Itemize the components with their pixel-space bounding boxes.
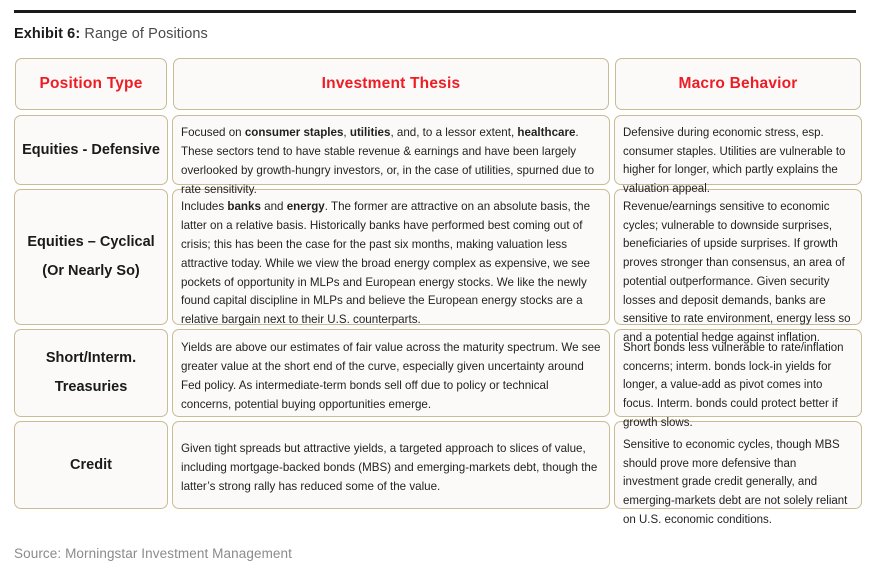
source-attribution: Source: Morningstar Investment Managemen… (14, 546, 292, 561)
cell-investment-thesis: Focused on consumer staples, utilities, … (172, 115, 610, 185)
exhibit-label: Exhibit 6: (14, 26, 80, 42)
positions-table: Position Type Investment Thesis Macro Be… (10, 53, 866, 513)
macro-behavior-text: Sensitive to economic cycles, though MBS… (614, 421, 862, 509)
column-header-position-type: Position Type (14, 57, 168, 111)
position-type-label: Short/Interm. Treasuries (14, 329, 168, 417)
header-cell-macro-behavior: Macro Behavior (615, 58, 861, 110)
investment-thesis-text: Includes banks and energy. The former ar… (172, 189, 610, 325)
cell-position-type: Short/Interm. Treasuries (14, 329, 168, 417)
cell-macro-behavior: Short bonds less vulnerable to rate/infl… (614, 329, 862, 417)
table-header-row: Position Type Investment Thesis Macro Be… (14, 57, 862, 111)
cell-position-type: Credit (14, 421, 168, 509)
header-cell-investment-thesis: Investment Thesis (173, 58, 609, 110)
header-cell-position-type: Position Type (15, 58, 167, 110)
cell-macro-behavior: Defensive during economic stress, esp. c… (614, 115, 862, 185)
position-type-label: Equities - Defensive (14, 115, 168, 185)
top-rule-divider (14, 10, 856, 13)
cell-macro-behavior: Sensitive to economic cycles, though MBS… (614, 421, 862, 509)
investment-thesis-text: Yields are above our estimates of fair v… (172, 329, 610, 417)
macro-behavior-text: Short bonds less vulnerable to rate/infl… (614, 329, 862, 417)
table-row: Credit Given tight spreads but attractiv… (14, 421, 862, 509)
macro-behavior-text: Defensive during economic stress, esp. c… (614, 115, 862, 185)
exhibit-page: Exhibit 6: Range of Positions Position T… (0, 10, 870, 575)
table-row: Short/Interm. Treasuries Yields are abov… (14, 329, 862, 417)
cell-position-type: Equities – Cyclical (Or Nearly So) (14, 189, 168, 325)
exhibit-title-text: Range of Positions (80, 26, 208, 42)
cell-macro-behavior: Revenue/earnings sensitive to economic c… (614, 189, 862, 325)
investment-thesis-text: Given tight spreads but attractive yield… (172, 421, 610, 509)
page-title: Exhibit 6: Range of Positions (14, 26, 856, 42)
column-header-investment-thesis: Investment Thesis (172, 57, 610, 111)
table-row: Equities - Defensive Focused on consumer… (14, 115, 862, 185)
investment-thesis-text: Focused on consumer staples, utilities, … (172, 115, 610, 185)
cell-investment-thesis: Given tight spreads but attractive yield… (172, 421, 610, 509)
cell-investment-thesis: Includes banks and energy. The former ar… (172, 189, 610, 325)
macro-behavior-text: Revenue/earnings sensitive to economic c… (614, 189, 862, 325)
position-type-label: Credit (14, 421, 168, 509)
position-type-label: Equities – Cyclical (Or Nearly So) (14, 189, 168, 325)
column-header-macro-behavior: Macro Behavior (614, 57, 862, 111)
cell-position-type: Equities - Defensive (14, 115, 168, 185)
cell-investment-thesis: Yields are above our estimates of fair v… (172, 329, 610, 417)
table-row: Equities – Cyclical (Or Nearly So) Inclu… (14, 189, 862, 325)
